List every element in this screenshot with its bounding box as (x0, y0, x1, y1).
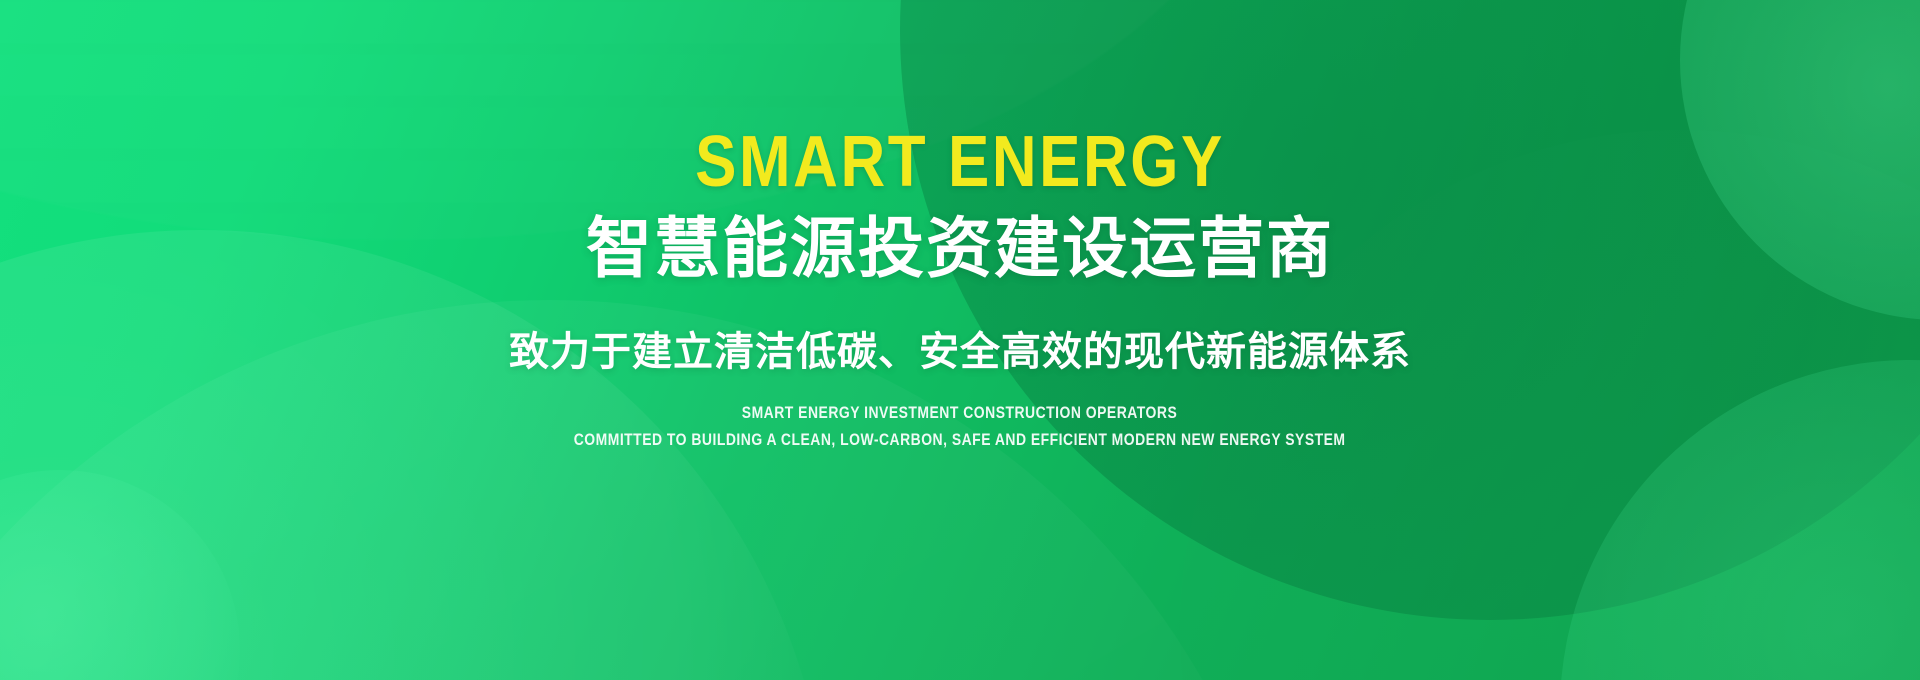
hero-banner: SMART ENERGY 智慧能源投资建设运营商 致力于建立清洁低碳、安全高效的… (0, 0, 1920, 680)
headline-english: SMART ENERGY (695, 126, 1225, 198)
subtitle-chinese: 致力于建立清洁低碳、安全高效的现代新能源体系 (509, 328, 1411, 376)
banner-content: SMART ENERGY 智慧能源投资建设运营商 致力于建立清洁低碳、安全高效的… (0, 0, 1920, 680)
caption-line-1: SMART ENERGY INVESTMENT CONSTRUCTION OPE… (742, 402, 1177, 424)
caption-line-2: COMMITTED TO BUILDING A CLEAN, LOW-CARBO… (574, 429, 1346, 451)
headline-chinese: 智慧能源投资建设运营商 (586, 212, 1334, 286)
caption-group: SMART ENERGY INVESTMENT CONSTRUCTION OPE… (489, 402, 1430, 451)
